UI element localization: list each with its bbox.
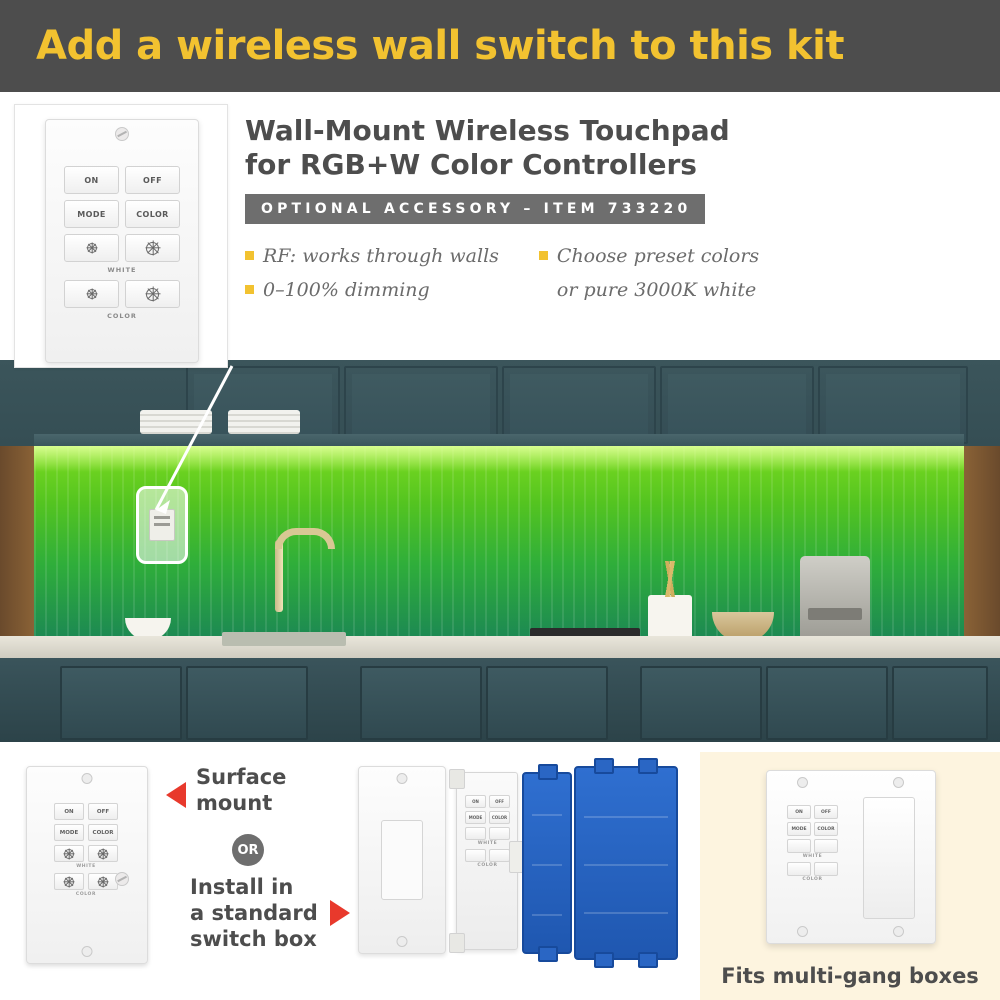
keypad-row bbox=[787, 839, 838, 853]
feature-text: 0–100% dimming bbox=[263, 278, 430, 302]
keypad-group-label-white: WHITE bbox=[64, 266, 180, 274]
plate-opening bbox=[381, 820, 423, 900]
keypad-group-label-white: WHITE bbox=[54, 864, 118, 869]
keypad-group-label-color: COLOR bbox=[465, 863, 510, 868]
screw-icon bbox=[115, 872, 129, 886]
box-tab-icon bbox=[538, 764, 558, 780]
screw-icon bbox=[82, 773, 93, 784]
keypad-group-label-color: COLOR bbox=[64, 312, 180, 320]
page-title: Add a wireless wall switch to this kit bbox=[0, 23, 844, 69]
box-detail-line bbox=[584, 912, 668, 914]
touchpad-keypad-small[interactable]: ON OFF MODE COLOR WHITE bbox=[54, 803, 118, 897]
button-color[interactable]: COLOR bbox=[88, 824, 118, 841]
button-white-brightness-up[interactable] bbox=[88, 845, 118, 862]
button-on[interactable]: ON bbox=[787, 805, 811, 819]
electrical-box-narrow bbox=[522, 772, 572, 954]
espresso-machine bbox=[800, 556, 870, 642]
cabinet-panel bbox=[502, 366, 656, 444]
countertop bbox=[0, 636, 1000, 658]
list-item: 0–100% dimming bbox=[245, 278, 499, 302]
box-tab-icon bbox=[594, 952, 614, 968]
list-item: Choose preset colors bbox=[539, 244, 759, 268]
button-mode[interactable]: MODE bbox=[787, 822, 811, 836]
keypad-row bbox=[64, 234, 180, 262]
keypad-group-label-color: COLOR bbox=[54, 892, 118, 897]
bullet-square-icon bbox=[245, 285, 254, 294]
electrical-box-wide bbox=[574, 766, 678, 960]
touchpad-keypad-insert[interactable]: ON OFF MODE COLOR WHITE bbox=[465, 795, 510, 868]
bottom-section: ON OFF MODE COLOR WHITE bbox=[0, 752, 1000, 1000]
keypad-row bbox=[465, 827, 510, 840]
box-detail-line bbox=[584, 864, 668, 866]
button-off[interactable]: OFF bbox=[814, 805, 838, 819]
keypad-row: ON OFF bbox=[465, 795, 510, 808]
feature-text: or pure 3000K white bbox=[557, 278, 756, 302]
keypad-group-label-white: WHITE bbox=[787, 854, 838, 859]
button-white-brightness-up[interactable] bbox=[814, 839, 838, 853]
button-off[interactable]: OFF bbox=[88, 803, 118, 820]
button-color-brightness-down[interactable] bbox=[64, 280, 119, 308]
arrow-left-icon bbox=[166, 782, 186, 808]
screw-icon bbox=[893, 777, 904, 788]
stacked-plates bbox=[228, 410, 300, 434]
button-white-brightness-up[interactable] bbox=[125, 234, 180, 262]
box-detail-line bbox=[532, 914, 562, 916]
stacked-plates bbox=[140, 410, 212, 434]
product-infographic: Add a wireless wall switch to this kit W… bbox=[0, 0, 1000, 1000]
cabinet-panel bbox=[640, 666, 762, 740]
cabinet-panel bbox=[766, 666, 888, 740]
bullet-square-icon bbox=[245, 251, 254, 260]
mounting-tab-top bbox=[449, 769, 465, 789]
keypad-row bbox=[465, 849, 510, 862]
screw-icon bbox=[115, 127, 129, 141]
screw-icon bbox=[893, 926, 904, 937]
screw-icon bbox=[797, 926, 808, 937]
feature-column-left: RF: works through walls 0–100% dimming bbox=[245, 244, 499, 302]
screw-icon bbox=[82, 946, 93, 957]
box-detail-line bbox=[532, 814, 562, 816]
mounting-options-panel: ON OFF MODE COLOR WHITE bbox=[0, 752, 690, 1000]
shelf-edge bbox=[34, 434, 964, 446]
screw-icon bbox=[797, 777, 808, 788]
box-tab-icon bbox=[594, 758, 614, 774]
button-on[interactable]: ON bbox=[54, 803, 84, 820]
two-gang-wall-plate: ON OFF MODE COLOR WHITE bbox=[766, 770, 936, 944]
brightness-high-icon bbox=[146, 288, 159, 301]
kitchen-photo bbox=[0, 360, 1000, 742]
cabinet-panel bbox=[892, 666, 988, 740]
brightness-low-icon bbox=[64, 849, 74, 859]
step-install-line-1: Install in bbox=[190, 874, 360, 900]
button-color[interactable]: COLOR bbox=[489, 811, 510, 824]
keypad-row: ON OFF bbox=[54, 803, 118, 820]
button-mode[interactable]: MODE bbox=[465, 811, 486, 824]
wall-plate: ON OFF MODE COLOR WHITE bbox=[45, 119, 199, 363]
button-color-brightness-down[interactable] bbox=[465, 849, 486, 862]
box-tab-icon bbox=[538, 946, 558, 962]
info-text-block: Wall-Mount Wireless Touchpad for RGB+W C… bbox=[245, 114, 985, 302]
keypad-row: MODE COLOR bbox=[787, 822, 838, 836]
bullet-square-icon bbox=[539, 251, 548, 260]
feature-bullets: RF: works through walls 0–100% dimming C… bbox=[245, 244, 985, 302]
product-heading-line-1: Wall-Mount Wireless Touchpad bbox=[245, 114, 985, 148]
keypad-row bbox=[787, 862, 838, 876]
status-badge: OPTIONAL ACCESSORY – ITEM 733220 bbox=[245, 194, 705, 224]
button-on[interactable]: ON bbox=[64, 166, 119, 194]
touchpad-surface-mount: ON OFF MODE COLOR WHITE bbox=[26, 766, 148, 964]
keypad-row bbox=[64, 280, 180, 308]
button-white-brightness-down[interactable] bbox=[54, 845, 84, 862]
list-item: or pure 3000K white bbox=[557, 278, 759, 302]
keypad-row: ON OFF bbox=[787, 805, 838, 819]
screw-icon bbox=[397, 773, 408, 784]
keypad-row bbox=[54, 845, 118, 862]
button-color[interactable]: COLOR bbox=[125, 200, 180, 228]
cabinet-panel bbox=[186, 666, 308, 740]
button-color-brightness-down[interactable] bbox=[787, 862, 811, 876]
step-surface-mount: Surface mount bbox=[196, 764, 346, 816]
brightness-low-icon bbox=[64, 877, 74, 887]
keypad-row: ON OFF bbox=[64, 166, 180, 194]
button-white-brightness-down[interactable] bbox=[787, 839, 811, 853]
brightness-high-icon bbox=[146, 242, 159, 255]
brightness-low-icon bbox=[87, 289, 97, 299]
keypad-row: MODE COLOR bbox=[54, 824, 118, 841]
keypad-row: MODE COLOR bbox=[465, 811, 510, 824]
button-color-brightness-up[interactable] bbox=[489, 849, 510, 862]
installed-touchpad-icon bbox=[149, 509, 175, 541]
box-tab-icon bbox=[638, 758, 658, 774]
brightness-high-icon bbox=[98, 877, 108, 887]
dimmer-paddle-switch[interactable] bbox=[863, 797, 915, 919]
keypad-group-label-color: COLOR bbox=[787, 877, 838, 882]
faucet bbox=[275, 540, 283, 612]
list-item: RF: works through walls bbox=[245, 244, 499, 268]
button-color-brightness-up[interactable] bbox=[814, 862, 838, 876]
step-surface-line-2: mount bbox=[196, 790, 346, 816]
step-install-line-3: switch box bbox=[190, 926, 360, 952]
feature-column-right: Choose preset colors or pure 3000K white bbox=[539, 244, 759, 302]
button-color[interactable]: COLOR bbox=[814, 822, 838, 836]
box-detail-line bbox=[532, 864, 562, 866]
button-off[interactable]: OFF bbox=[125, 166, 180, 194]
button-color-brightness-down[interactable] bbox=[54, 873, 84, 890]
box-tab-icon bbox=[638, 952, 658, 968]
button-on[interactable]: ON bbox=[465, 795, 486, 808]
wall-switch-highlight[interactable] bbox=[136, 486, 188, 564]
step-surface-line-1: Surface bbox=[196, 764, 346, 790]
button-white-brightness-down[interactable] bbox=[465, 827, 486, 840]
button-off[interactable]: OFF bbox=[489, 795, 510, 808]
utensil-crock bbox=[648, 595, 692, 641]
multi-gang-panel: ON OFF MODE COLOR WHITE bbox=[700, 752, 1000, 1000]
sink bbox=[222, 632, 346, 646]
button-white-brightness-up[interactable] bbox=[489, 827, 510, 840]
button-mode[interactable]: MODE bbox=[54, 824, 84, 841]
button-color-brightness-up[interactable] bbox=[125, 280, 180, 308]
cabinet-panel bbox=[344, 366, 498, 444]
button-white-brightness-down[interactable] bbox=[64, 234, 119, 262]
cabinet-panel bbox=[486, 666, 608, 740]
or-badge: OR bbox=[232, 834, 264, 866]
box-detail-line bbox=[584, 816, 668, 818]
mounting-tab-bottom bbox=[449, 933, 465, 953]
product-heading-line-2: for RGB+W Color Controllers bbox=[245, 148, 985, 182]
cabinet-panel bbox=[818, 366, 968, 444]
cabinet-panel bbox=[660, 366, 814, 444]
cabinet-panel bbox=[60, 666, 182, 740]
screw-icon bbox=[397, 936, 408, 947]
button-mode[interactable]: MODE bbox=[64, 200, 119, 228]
feature-text: RF: works through walls bbox=[263, 244, 499, 268]
brightness-low-icon bbox=[87, 243, 97, 253]
button-color-brightness-up[interactable] bbox=[88, 873, 118, 890]
touchpad-callout: ON OFF MODE COLOR WHITE bbox=[14, 104, 228, 368]
multi-gang-caption: Fits multi-gang boxes bbox=[700, 964, 1000, 988]
keypad-row bbox=[54, 873, 118, 890]
arrow-right-icon bbox=[330, 900, 350, 926]
touchpad-insert-module: ON OFF MODE COLOR WHITE bbox=[456, 772, 518, 950]
feature-text: Choose preset colors bbox=[557, 244, 759, 268]
keypad-row: MODE COLOR bbox=[64, 200, 180, 228]
touchpad-keypad-gang[interactable]: ON OFF MODE COLOR WHITE bbox=[787, 805, 838, 882]
cabinet-panel bbox=[360, 666, 482, 740]
touchpad-keypad[interactable]: ON OFF MODE COLOR WHITE bbox=[64, 166, 180, 320]
keypad-group-label-white: WHITE bbox=[465, 841, 510, 846]
header-banner: Add a wireless wall switch to this kit bbox=[0, 0, 1000, 92]
decora-wall-plate bbox=[358, 766, 446, 954]
lower-cabinets bbox=[0, 658, 1000, 742]
brightness-high-icon bbox=[98, 849, 108, 859]
